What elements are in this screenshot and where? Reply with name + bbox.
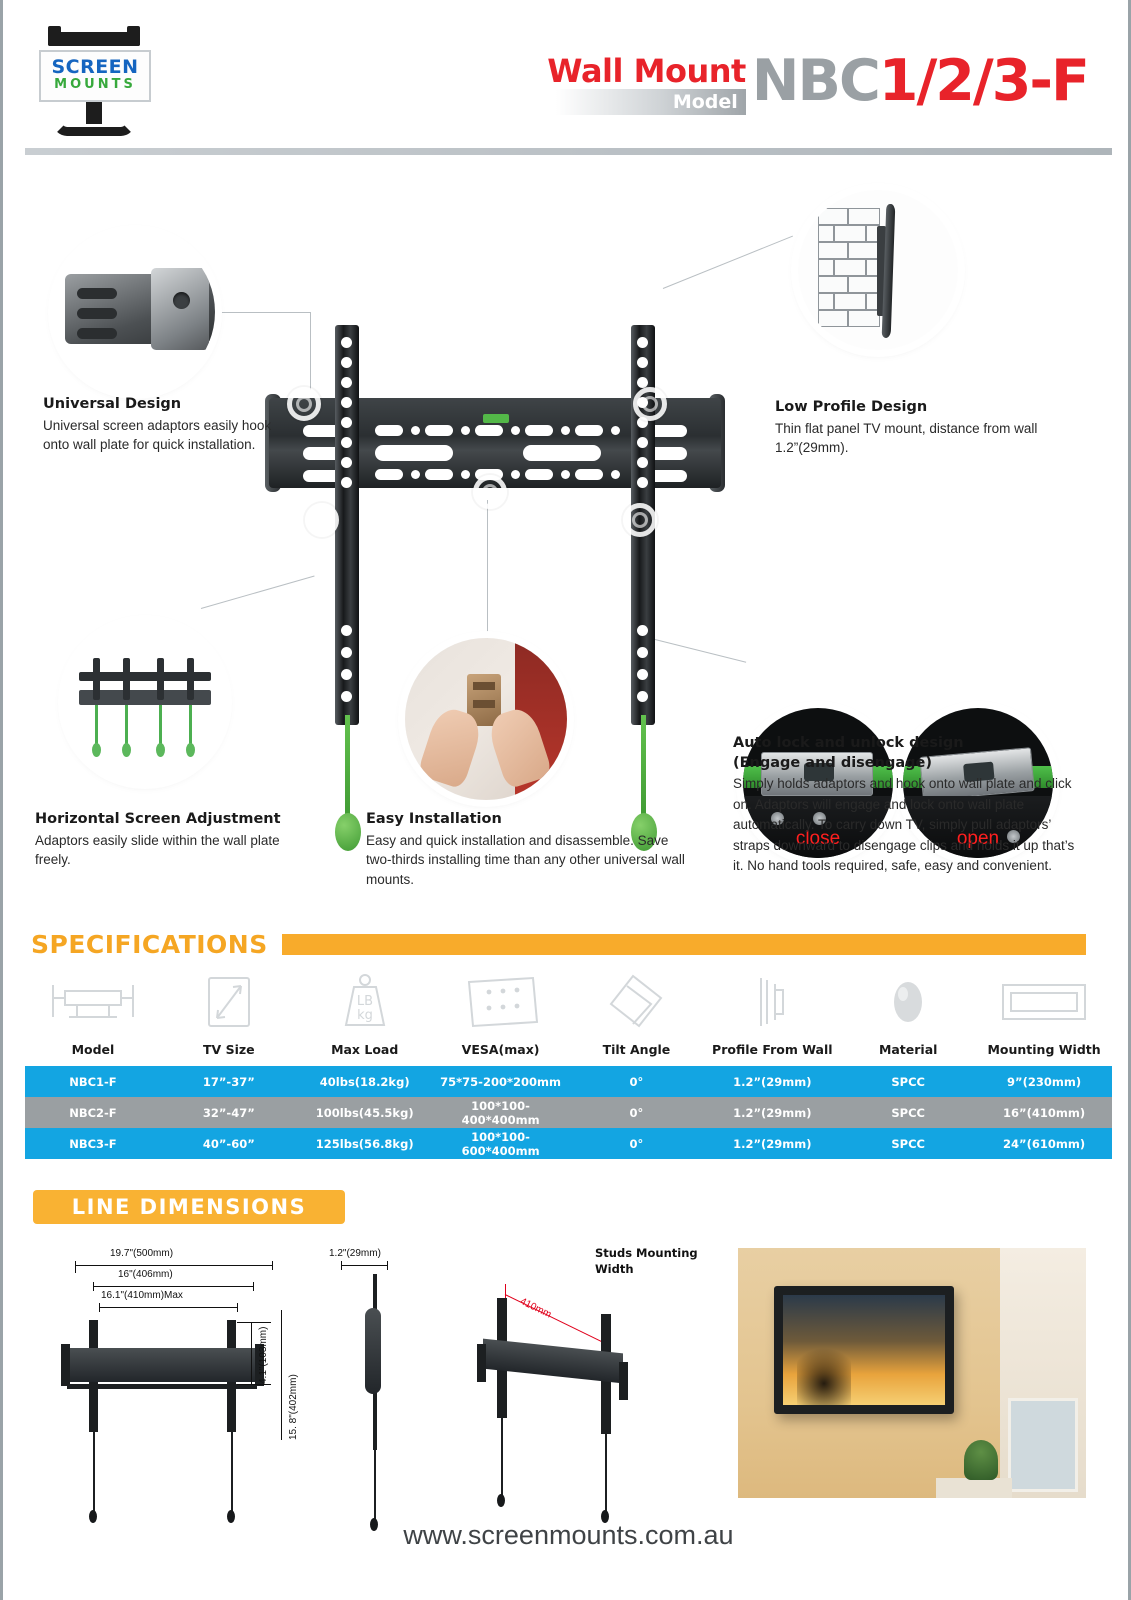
tv-size-diagonal-icon — [161, 968, 297, 1036]
title-model-suffix: 1/2/3-F — [879, 54, 1088, 108]
svg-text:LB: LB — [357, 994, 373, 1009]
feature-title-line1: Auto lock and unlock design — [733, 734, 1078, 754]
table-row: NBC1-F 17”-37” 40lbs(18.2kg) 75*75-200*2… — [25, 1066, 1112, 1097]
dim-label-height-inner: 4.1"(103mm) — [258, 1327, 269, 1384]
studs-callout-line1: Studs Mounting — [595, 1246, 698, 1260]
cell-vesa: 100*100-600*400mm — [433, 1130, 569, 1158]
drawing-iso-view: Studs Mounting Width 410mm — [473, 1240, 723, 1540]
cell-mounting-width: 9”(230mm) — [976, 1075, 1112, 1089]
profile-from-wall-icon — [704, 968, 840, 1036]
feature-body: Simply holds adaptors and hook onto wall… — [733, 774, 1078, 877]
spec-sheet-page: SCREEN MOUNTS Wall Mount Model NBC 1/2/3… — [0, 0, 1131, 1600]
leader-line-lowprofile — [663, 236, 793, 289]
svg-text:kg: kg — [357, 1008, 373, 1023]
cell-material: SPCC — [840, 1075, 976, 1089]
cell-material: SPCC — [840, 1137, 976, 1151]
header-divider — [25, 148, 1112, 155]
photo-horizontal-adjustment — [65, 622, 225, 782]
studs-callout-line2: Width — [595, 1262, 634, 1276]
dim-label-width-outer: 19.7"(500mm) — [110, 1248, 173, 1259]
column-header: Tilt Angle — [569, 1036, 705, 1066]
cell-max-load: 40lbs(18.2kg) — [297, 1075, 433, 1089]
cell-max-load: 100lbs(45.5kg) — [297, 1106, 433, 1120]
line-dimensions-badge: LINE DIMENSIONS — [33, 1190, 345, 1224]
feature-low-profile: Low Profile Design Thin flat panel TV mo… — [775, 398, 1075, 458]
cell-tilt: 0° — [569, 1106, 705, 1120]
mounting-width-icon — [976, 968, 1112, 1036]
feature-body: Easy and quick installation and disassem… — [366, 831, 696, 890]
room-tv — [774, 1286, 954, 1414]
column-header: Material — [840, 1036, 976, 1066]
logo-text-mounts: MOUNTS — [54, 77, 136, 94]
footer-website-url[interactable]: www.screenmounts.com.au — [3, 1520, 1131, 1551]
logo-text-screen: SCREEN — [51, 58, 138, 77]
title-eyebrow: Wall Mount — [547, 56, 746, 86]
column-header: Model — [25, 1036, 161, 1066]
photo-mounted-tv-room — [738, 1248, 1086, 1498]
specifications-accent-bar — [282, 934, 1086, 955]
cell-material: SPCC — [840, 1106, 976, 1120]
specifications-table: LB kg — [25, 968, 1112, 1159]
cell-model: NBC2-F — [25, 1106, 161, 1120]
logo-top-arm-icon — [48, 32, 140, 46]
table-row: NBC3-F 40”-60” 125lbs(56.8kg) 100*100-60… — [25, 1128, 1112, 1159]
features-section: close open — [3, 160, 1131, 915]
tilt-angle-icon — [569, 968, 705, 1036]
column-header: Max Load — [297, 1036, 433, 1066]
specifications-header: SPECIFICATIONS — [31, 930, 1086, 959]
drawing-front-view: 19.7"(500mm) 16"(406mm) 16.1"(410mm)Max — [55, 1248, 305, 1528]
specifications-title: SPECIFICATIONS — [31, 930, 268, 959]
title-model-bar: Model — [556, 89, 746, 115]
feature-universal-design: Universal Design Universal screen adapto… — [43, 395, 293, 455]
title-model-word: Model — [673, 91, 738, 113]
feature-title: Universal Design — [43, 395, 293, 415]
line-dimensions-title: LINE DIMENSIONS — [72, 1195, 306, 1219]
cell-mounting-width: 16”(410mm) — [976, 1106, 1112, 1120]
specifications-column-headers: Model TV Size Max Load VESA(max) Tilt An… — [25, 1036, 1112, 1066]
column-header: TV Size — [161, 1036, 297, 1066]
material-sphere-icon — [840, 968, 976, 1036]
cell-profile: 1.2”(29mm) — [704, 1075, 840, 1089]
max-load-weight-icon: LB kg — [297, 968, 433, 1036]
feature-auto-lock: Auto lock and unlock design (Engage and … — [733, 734, 1078, 877]
studs-dimension-label: 410mm — [518, 1296, 553, 1321]
vesa-pattern-icon — [433, 968, 569, 1036]
feature-title: Easy Installation — [366, 810, 696, 830]
photo-universal-design — [55, 232, 215, 392]
page-header: SCREEN MOUNTS Wall Mount Model NBC 1/2/3… — [3, 0, 1131, 155]
drawing-side-view: 1.2"(29mm) — [321, 1248, 441, 1538]
feature-body: Thin flat panel TV mount, distance from … — [775, 419, 1075, 458]
feature-title: Low Profile Design — [775, 398, 1075, 418]
column-header: Profile From Wall — [704, 1036, 840, 1066]
cell-mounting-width: 24”(610mm) — [976, 1137, 1112, 1151]
logo-stand-icon — [53, 102, 135, 136]
cell-tv-size: 17”-37” — [161, 1075, 297, 1089]
brick-wall-icon — [818, 208, 880, 334]
cell-tv-size: 32”-47” — [161, 1106, 297, 1120]
dim-label-height-outer: 15. 8"(402mm) — [288, 1374, 299, 1440]
cell-vesa: 75*75-200*200mm — [433, 1075, 569, 1089]
cell-max-load: 125lbs(56.8kg) — [297, 1137, 433, 1151]
feature-body: Universal screen adaptors easily hook on… — [43, 416, 293, 455]
dim-label-depth: 1.2"(29mm) — [329, 1248, 381, 1259]
cell-model: NBC3-F — [25, 1137, 161, 1151]
product-illustration — [265, 315, 725, 815]
cell-profile: 1.2”(29mm) — [704, 1137, 840, 1151]
photo-low-profile — [798, 190, 958, 350]
column-header: VESA(max) — [433, 1036, 569, 1066]
table-row: NBC2-F 32”-47” 100lbs(45.5kg) 100*100-40… — [25, 1097, 1112, 1128]
cell-model: NBC1-F — [25, 1075, 161, 1089]
wall-plate-icon — [25, 968, 161, 1036]
feature-easy-installation: Easy Installation Easy and quick install… — [366, 810, 696, 889]
cell-profile: 1.2”(29mm) — [704, 1106, 840, 1120]
feature-title: Horizontal Screen Adjustment — [35, 810, 285, 830]
cell-tilt: 0° — [569, 1075, 705, 1089]
cell-vesa: 100*100-400*400mm — [433, 1099, 569, 1127]
page-title: Wall Mount Model NBC 1/2/3-F — [547, 54, 1088, 126]
title-model-prefix: NBC — [752, 54, 879, 108]
cell-tilt: 0° — [569, 1137, 705, 1151]
dim-label-width-mid: 16"(406mm) — [118, 1269, 173, 1280]
brand-logo: SCREEN MOUNTS — [31, 32, 161, 140]
feature-horizontal-adjustment: Horizontal Screen Adjustment Adaptors ea… — [35, 810, 285, 870]
feature-body: Adaptors easily slide within the wall pl… — [35, 831, 285, 870]
logo-panel: SCREEN MOUNTS — [39, 50, 151, 102]
feature-title-line2: (Engage and disengage) — [733, 754, 1078, 774]
cell-tv-size: 40”-60” — [161, 1137, 297, 1151]
column-header: Mounting Width — [976, 1036, 1112, 1066]
dim-label-width-inner: 16.1"(410mm)Max — [101, 1290, 183, 1301]
specifications-icon-row: LB kg — [25, 968, 1112, 1036]
